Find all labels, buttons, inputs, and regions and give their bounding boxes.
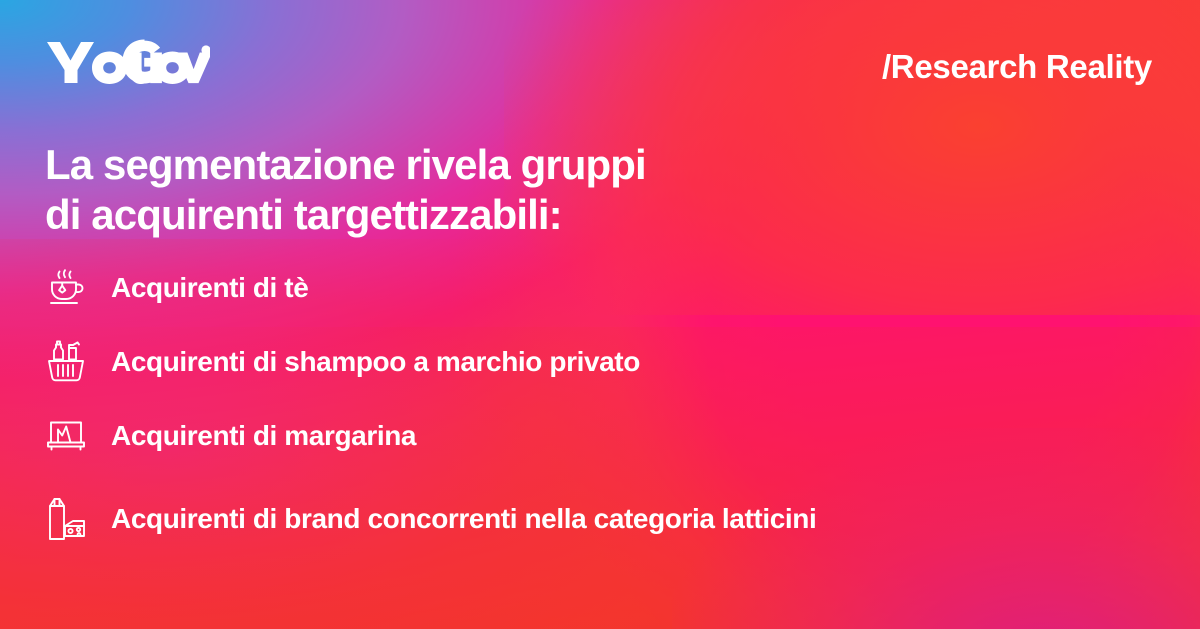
list-item: Acquirenti di brand concorrenti nella ca… — [45, 480, 825, 558]
segment-list: Acquirenti di tè — [45, 258, 825, 558]
shopping-basket-bottles-icon — [45, 336, 91, 388]
butter-tub-icon — [45, 410, 91, 462]
list-item-label: Acquirenti di shampoo a marchio privato — [111, 346, 640, 378]
page-title-line-2: di acquirenti targettizzabili: — [45, 190, 805, 240]
yougov-wordmark-icon — [45, 38, 210, 84]
list-item-label: Acquirenti di tè — [111, 272, 308, 304]
milk-carton-cheese-icon — [45, 493, 91, 545]
teacup-icon — [45, 262, 91, 314]
yougov-logo — [45, 38, 210, 84]
research-reality-slide: /Research Reality La segmentazione rivel… — [0, 0, 1200, 629]
list-item: Acquirenti di margarina — [45, 406, 825, 466]
slide-content: /Research Reality La segmentazione rivel… — [0, 0, 1200, 629]
research-reality-kicker: /Research Reality — [882, 48, 1152, 86]
list-item-label: Acquirenti di brand concorrenti nella ca… — [111, 503, 816, 535]
list-item: Acquirenti di tè — [45, 258, 825, 318]
list-item-label: Acquirenti di margarina — [111, 420, 416, 452]
page-title: La segmentazione rivela gruppi di acquir… — [45, 140, 805, 239]
page-title-line-1: La segmentazione rivela gruppi — [45, 141, 646, 188]
list-item: Acquirenti di shampoo a marchio privato — [45, 332, 825, 392]
